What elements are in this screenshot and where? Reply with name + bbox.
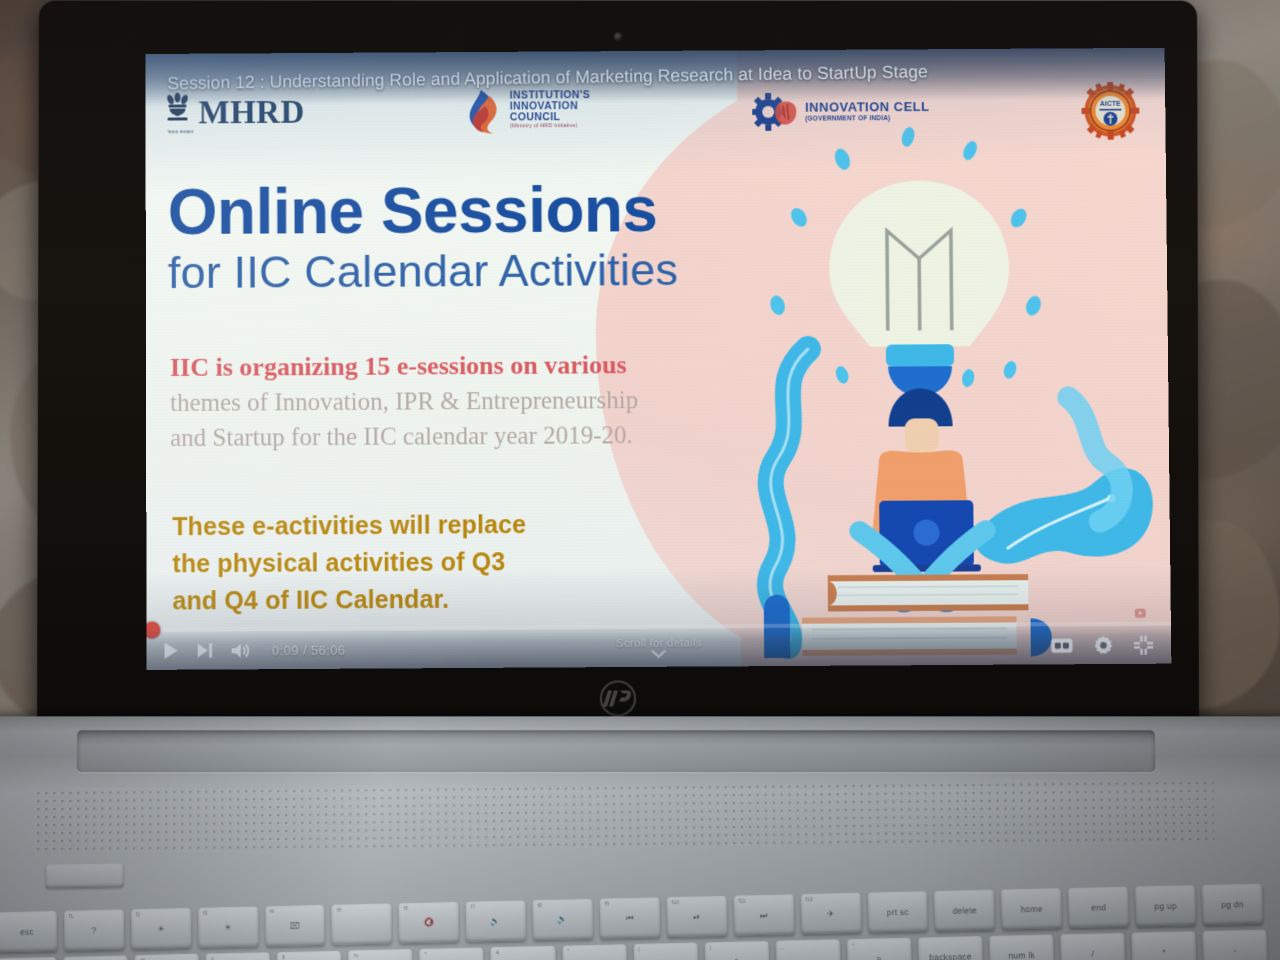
key-label: pg dn xyxy=(1221,899,1244,910)
keyboard-key[interactable]: @2 xyxy=(135,954,200,960)
captions-icon[interactable] xyxy=(1051,638,1073,653)
key-fn-label: f3 xyxy=(203,911,208,917)
key-fn-label: _ xyxy=(780,944,783,950)
slide-highlight-group: These e-activities will replace the phys… xyxy=(172,507,526,621)
keyboard-key[interactable]: f2☀ xyxy=(131,908,192,949)
keyboard-key[interactable]: f10⏯ xyxy=(666,896,727,937)
key-fn-label: ) xyxy=(709,945,711,951)
aicte-label: AICTE xyxy=(1100,101,1121,108)
key-fn-label: ^ xyxy=(424,952,427,958)
keyboard-key[interactable]: _- xyxy=(775,939,840,960)
key-fn-label: f11 xyxy=(738,898,745,904)
presentation-slide: MHRD भारत सरकार INSTITUTION'S INNOVATION xyxy=(145,48,1171,670)
key-label: - xyxy=(806,955,809,960)
key-label: home xyxy=(1020,904,1042,915)
key-label: backspace xyxy=(929,951,972,960)
keyboard-key[interactable]: (9 xyxy=(633,943,698,960)
keyboard-key[interactable]: backspace xyxy=(918,936,983,960)
keyboard-key[interactable]: end xyxy=(1068,887,1129,928)
chevron-down-icon xyxy=(651,649,666,658)
slide-headline-primary: Online Sessions xyxy=(168,178,678,244)
volume-icon[interactable] xyxy=(231,642,251,659)
video-title: Session 12 : Understanding Role and Appl… xyxy=(145,61,928,94)
gear-icon[interactable] xyxy=(1094,635,1113,654)
keyboard-key[interactable]: += xyxy=(847,938,912,960)
keyboard-key[interactable]: esc xyxy=(0,911,57,952)
illustration-lightbulb-student xyxy=(736,118,1161,661)
key-fn-label: % xyxy=(353,953,358,959)
key-fn-label: f8 xyxy=(538,903,543,909)
key-fn-label: f10 xyxy=(671,900,679,906)
key-fn-label: ( xyxy=(638,947,640,953)
laptop-base: escf1?f2☀f3☀f4⌧f5f6🔇f7🔉f8🔊f9⏮f10⏯f11⏭f12… xyxy=(0,716,1280,960)
keyboard-key[interactable]: f3☀ xyxy=(198,906,259,947)
iic-line-3: COUNCIL xyxy=(510,112,591,124)
key-label: = xyxy=(876,954,881,960)
key-label: ☀ xyxy=(157,923,165,934)
key-fn-label: f1 xyxy=(69,914,74,920)
keyboard-key[interactable]: f6🔇 xyxy=(399,902,460,943)
innovation-cell-sublabel: (GOVERNMENT OF INDIA) xyxy=(805,114,930,122)
key-fn-label: f4 xyxy=(270,909,275,915)
key-label: esc xyxy=(20,927,34,937)
keyboard-key[interactable]: f9⏮ xyxy=(599,897,660,938)
key-fn-label: f12 xyxy=(805,897,813,903)
keyboard-key[interactable]: ^6 xyxy=(419,947,484,960)
slide-highlight-line-2: the physical activities of Q3 xyxy=(172,544,526,583)
innovation-cell-line-1: INNOVATION CELL xyxy=(805,100,930,115)
key-label: num lk xyxy=(1008,950,1035,960)
mhrd-sublabel: भारत सरकार xyxy=(168,129,194,135)
iic-sublabel: (Ministry of HRD Initiative) xyxy=(510,124,590,130)
key-label: end xyxy=(1091,902,1106,912)
key-label: 🔊 xyxy=(557,914,568,925)
hp-logo-icon xyxy=(591,678,645,718)
laptop-device: MHRD भारत सरकार INSTITUTION'S INNOVATION xyxy=(0,0,1280,960)
video-controls-left: 0:09 / 56:06 xyxy=(146,641,345,660)
webcam-icon xyxy=(614,33,623,42)
slide-headline-group: Online Sessions for IIC Calendar Activit… xyxy=(168,178,679,298)
key-fn-label: f6 xyxy=(404,906,409,912)
keyboard-key[interactable]: !1 xyxy=(63,956,128,960)
key-label: ⏮ xyxy=(626,912,634,923)
key-label: / xyxy=(1091,949,1094,959)
keyboard-key[interactable]: $4 xyxy=(277,951,342,960)
slide-highlight-line-1: These e-activities will replace xyxy=(172,507,526,546)
key-label: 🔉 xyxy=(490,915,501,926)
keyboard-key[interactable]: *8 xyxy=(562,944,627,960)
keyboard-key[interactable]: pg dn xyxy=(1202,884,1263,925)
key-fn-label: f5 xyxy=(337,908,342,914)
laptop-screen: MHRD भारत सरकार INSTITUTION'S INNOVATION xyxy=(145,48,1171,670)
key-fn-label: * xyxy=(567,949,569,955)
keyboard-key[interactable]: / xyxy=(1060,933,1125,960)
keyboard-key[interactable]: %5 xyxy=(348,949,413,960)
key-label: ? xyxy=(91,925,96,935)
video-time-display: 0:09 / 56:06 xyxy=(272,642,346,658)
keyboard-key[interactable]: f8🔊 xyxy=(533,899,594,940)
key-label: 🔇 xyxy=(423,917,434,928)
key-label: - xyxy=(1233,945,1236,955)
keyboard-key[interactable]: num lk xyxy=(989,935,1054,960)
key-label: * xyxy=(1162,947,1166,957)
key-label: delete xyxy=(952,905,977,916)
innovation-cell-text-block: INNOVATION CELL (GOVERNMENT OF INDIA) xyxy=(805,100,930,122)
youtube-watermark-icon xyxy=(1135,609,1146,618)
keyboard-key[interactable]: f4⌧ xyxy=(265,905,326,946)
keyboard-key[interactable]: #3 xyxy=(206,952,271,960)
key-label: prt sc xyxy=(887,907,909,918)
key-fn-label: + xyxy=(852,942,855,948)
key-label: pg up xyxy=(1154,901,1177,912)
keyboard-key[interactable]: f7🔉 xyxy=(466,900,527,941)
keyboard-key[interactable]: - xyxy=(1202,930,1268,960)
key-fn-label: f9 xyxy=(605,902,610,908)
next-icon[interactable] xyxy=(197,642,214,658)
key-label: ✈ xyxy=(827,908,835,919)
keyboard-key[interactable]: pg up xyxy=(1135,885,1196,926)
key-label: ⏭ xyxy=(760,909,768,920)
slide-paragraph-line-2: themes of Innovation, IPR & Entrepreneur… xyxy=(170,383,638,421)
key-fn-label: & xyxy=(496,950,500,956)
key-label: ⏯ xyxy=(693,911,700,922)
video-title-bar: Session 12 : Understanding Role and Appl… xyxy=(145,48,1165,106)
key-fn-label: f2 xyxy=(136,912,141,918)
keyboard-key[interactable]: &7 xyxy=(491,946,556,960)
keyboard-key[interactable]: f1? xyxy=(64,910,124,951)
slide-paragraph-line-3: and Startup for the IIC calendar year 20… xyxy=(170,418,638,456)
laptop-hinge-bar xyxy=(77,730,1156,772)
slide-paragraph-group: IIC is organizing 15 e-sessions on vario… xyxy=(170,348,639,456)
minimize-icon[interactable] xyxy=(1134,635,1153,654)
keyboard-key[interactable]: delete xyxy=(934,890,995,931)
slide-highlight-line-3: and Q4 of IIC Calendar. xyxy=(172,581,526,620)
key-label: ⌧ xyxy=(290,920,300,931)
key-fn-label: $ xyxy=(282,955,285,960)
video-controls-bar: 0:09 / 56:06 Scroll for details xyxy=(146,625,1171,669)
keyboard-key[interactable]: )0 xyxy=(704,941,769,960)
slide-paragraph-lead: IIC is organizing 15 e-sessions on vario… xyxy=(170,348,638,385)
watermark-label xyxy=(1149,609,1157,616)
key-fn-label: f7 xyxy=(471,905,476,911)
play-icon[interactable] xyxy=(163,642,180,660)
scroll-hint-label: Scroll for details xyxy=(616,637,702,650)
keyboard-key[interactable]: home xyxy=(1001,888,1062,929)
speaker-grille xyxy=(34,779,1214,851)
keyboard-key[interactable]: f12✈ xyxy=(800,893,861,934)
keyboard-key[interactable]: f11⏭ xyxy=(733,894,794,935)
player-watermark xyxy=(1135,608,1157,617)
keyboard-key[interactable]: * xyxy=(1131,931,1197,960)
key-fn-label: # xyxy=(211,957,214,960)
slide-headline-secondary: for IIC Calendar Activities xyxy=(168,245,678,298)
key-label: ☀ xyxy=(224,922,232,933)
laptop-lid: MHRD भारत सरकार INSTITUTION'S INNOVATION xyxy=(37,1,1199,727)
power-button[interactable] xyxy=(46,863,124,888)
scroll-for-details-hint[interactable]: Scroll for details xyxy=(616,637,702,659)
video-controls-right xyxy=(1051,635,1172,655)
keyboard-key[interactable]: f5 xyxy=(332,903,393,944)
keyboard-key[interactable]: prt sc xyxy=(867,891,928,932)
